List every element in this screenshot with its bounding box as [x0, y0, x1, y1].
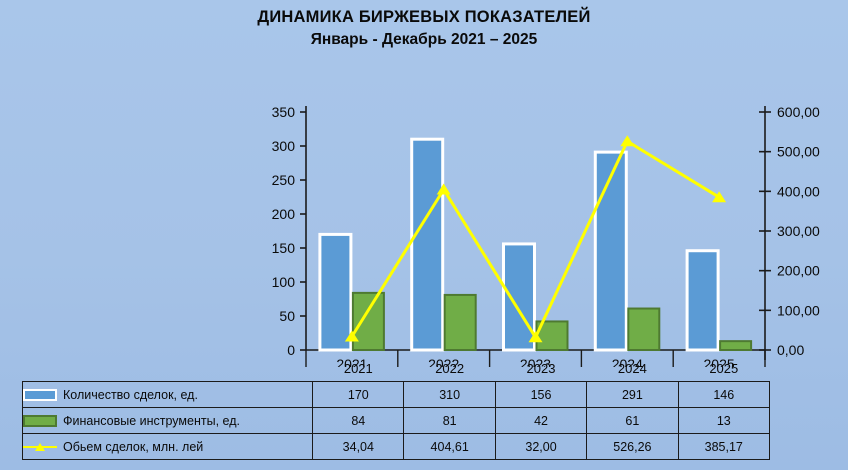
legend-item[interactable]: Обьем сделок, млн. лей [23, 434, 313, 460]
table-cell-value: 526,26 [587, 434, 678, 460]
bar-financial-instruments[interactable] [628, 309, 659, 350]
chart-plot-area: 0501001502002503003500,00100,00200,00300… [0, 95, 848, 367]
page-title: ДИНАМИКА БИРЖЕВЫХ ПОКАЗАТЕЛЕЙ [0, 6, 848, 28]
column-header-year: 2025 [678, 356, 769, 382]
table-cell-value: 404,61 [404, 434, 495, 460]
table-cell-value: 84 [313, 408, 404, 434]
column-header-year: 2024 [587, 356, 678, 382]
legend-item-label: Количество сделок, ед. [63, 388, 198, 402]
table-cell-value: 156 [495, 382, 586, 408]
left-axis-tick-label: 100 [272, 274, 296, 290]
table-cell-value: 291 [587, 382, 678, 408]
green-bar-swatch [23, 415, 57, 427]
legend-item-label: Финансовые инструменты, ед. [63, 414, 240, 428]
chart-subtitle: Январь - Декабрь 2021 – 2025 [0, 28, 848, 52]
bar-deals-count[interactable] [504, 244, 535, 350]
left-axis-tick-label: 200 [272, 206, 296, 222]
table-cell-value: 34,04 [313, 434, 404, 460]
legend-item[interactable]: Количество сделок, ед. [23, 382, 313, 408]
right-axis-tick-label: 500,00 [777, 144, 820, 160]
yellow-line-swatch [23, 441, 57, 453]
table-cell-value: 310 [404, 382, 495, 408]
left-axis-tick-label: 250 [272, 172, 296, 188]
table-row: Количество сделок, ед.170310156291146 [23, 382, 770, 408]
blue-bar-swatch [23, 389, 57, 401]
table-row: Финансовые инструменты, ед.8481426113 [23, 408, 770, 434]
table-cell-value: 146 [678, 382, 769, 408]
table-cell-value: 32,00 [495, 434, 586, 460]
bar-deals-count[interactable] [687, 251, 718, 350]
right-axis-tick-label: 300,00 [777, 223, 820, 239]
bar-financial-instruments[interactable] [720, 341, 751, 350]
bar-deals-count[interactable] [412, 139, 443, 350]
table-row-years: 20212022202320242025 [23, 356, 770, 382]
table-row: Обьем сделок, млн. лей34,04404,6132,0052… [23, 434, 770, 460]
bar-deals-count[interactable] [595, 152, 626, 350]
legend-item[interactable]: Финансовые инструменты, ед. [23, 408, 313, 434]
table-cell-value: 81 [404, 408, 495, 434]
data-table: 20212022202320242025Количество сделок, е… [22, 356, 770, 460]
right-axis-tick-label: 0,00 [777, 342, 804, 358]
left-axis-tick-label: 50 [279, 308, 295, 324]
legend-item-label: Обьем сделок, млн. лей [63, 440, 203, 454]
right-axis-tick-label: 600,00 [777, 104, 820, 120]
title-block: ДИНАМИКА БИРЖЕВЫХ ПОКАЗАТЕЛЕЙ Январь - Д… [0, 6, 848, 52]
table-cell-value: 61 [587, 408, 678, 434]
table-cell-value: 42 [495, 408, 586, 434]
bar-financial-instruments[interactable] [445, 295, 476, 350]
left-axis-tick-label: 300 [272, 138, 296, 154]
column-header-year: 2021 [313, 356, 404, 382]
table-cell-value: 13 [678, 408, 769, 434]
bar-deals-count[interactable] [320, 234, 351, 350]
table-cell-value: 170 [313, 382, 404, 408]
table-corner-cell [23, 356, 313, 382]
right-axis-tick-label: 200,00 [777, 263, 820, 279]
line-marker-triangle[interactable] [620, 135, 634, 146]
left-axis-tick-label: 150 [272, 240, 296, 256]
chart-svg: 0501001502002503003500,00100,00200,00300… [0, 95, 848, 367]
table-cell-value: 385,17 [678, 434, 769, 460]
right-axis-tick-label: 100,00 [777, 302, 820, 318]
right-axis-tick-label: 400,00 [777, 183, 820, 199]
left-axis-tick-label: 350 [272, 104, 296, 120]
column-header-year: 2023 [495, 356, 586, 382]
column-header-year: 2022 [404, 356, 495, 382]
